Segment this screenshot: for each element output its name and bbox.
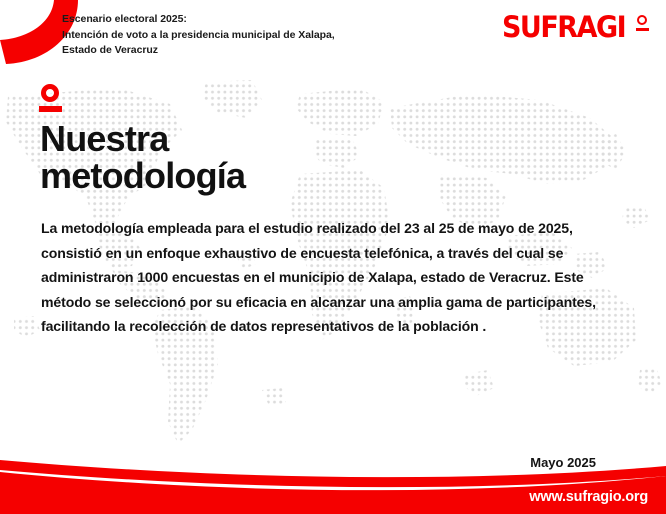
methodology-paragraph: La metodología empleada para el estudio … xyxy=(41,216,631,339)
header-subtitle-block: Escenario electoral 2025: Intención de v… xyxy=(62,12,482,59)
footer-website-url[interactable]: www.sufragio.org xyxy=(529,489,648,505)
slide-canvas: Escenario electoral 2025: Intención de v… xyxy=(0,0,666,514)
header-line-2: Intención de voto a la presidencia munic… xyxy=(62,28,482,44)
page-title-line-1: Nuestra xyxy=(40,118,168,159)
header-line-1: Escenario electoral 2025: xyxy=(62,12,482,28)
page-title: Nuestra metodología xyxy=(40,120,245,194)
date-label: Mayo 2025 xyxy=(530,455,596,470)
page-title-line-2: metodología xyxy=(40,157,245,194)
brand-ordinal-o-icon xyxy=(635,13,650,42)
red-o-ordinal-mark-icon xyxy=(39,84,65,114)
brand-wordmark: SUFRAGI xyxy=(502,13,625,42)
header-line-3: Estado de Veracruz xyxy=(62,43,482,59)
sufragio-logo[interactable]: SUFRAGI xyxy=(502,13,650,42)
